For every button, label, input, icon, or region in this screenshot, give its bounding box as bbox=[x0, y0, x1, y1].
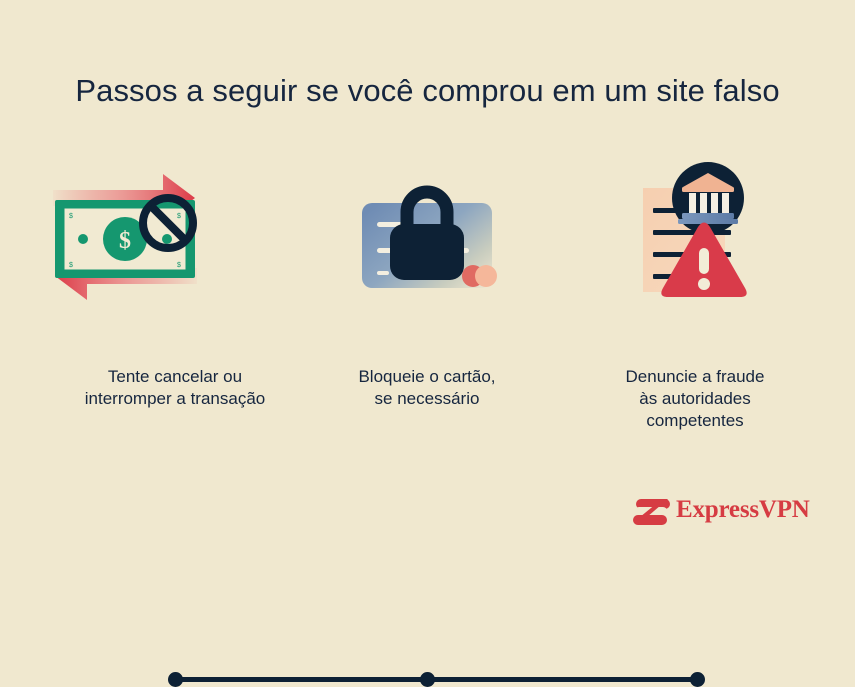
timeline-line bbox=[175, 677, 697, 682]
step-3-caption: Denuncie a fraude às autoridades compete… bbox=[565, 366, 825, 432]
page-title: Passos a seguir se você comprou em um si… bbox=[0, 72, 855, 110]
svg-text:$: $ bbox=[69, 213, 73, 220]
timeline-dot-3 bbox=[690, 672, 705, 687]
step-2-caption-line-1: Bloqueie o cartão, bbox=[297, 366, 557, 388]
step-1-caption-line-2: interromper a transação bbox=[45, 388, 305, 410]
svg-text:$: $ bbox=[177, 262, 181, 269]
step-3-caption-line-1: Denuncie a fraude bbox=[565, 366, 825, 388]
dollar-sign-glyph: $ bbox=[119, 228, 131, 254]
step-1-caption-line-1: Tente cancelar ou bbox=[45, 366, 305, 388]
money-transfer-blocked-icon: $ $ $ $ $ bbox=[45, 160, 305, 320]
step-3-caption-line-3: competentes bbox=[565, 410, 825, 432]
timeline-dot-1 bbox=[168, 672, 183, 687]
step-1-caption: Tente cancelar ou interromper a transaçã… bbox=[45, 366, 305, 410]
step-1-illustration: $ $ $ $ $ bbox=[45, 160, 305, 320]
svg-text:$: $ bbox=[69, 262, 73, 269]
step-3-illustration bbox=[565, 160, 825, 320]
card-network-circles-icon bbox=[462, 265, 497, 287]
banknote-icon: $ $ $ $ $ bbox=[55, 200, 195, 278]
bank-badge-icon bbox=[672, 162, 744, 234]
expressvpn-wordmark: ExpressVPN bbox=[676, 496, 810, 524]
step-2-illustration bbox=[297, 160, 557, 320]
step-3-caption-line-2: às autoridades bbox=[565, 388, 825, 410]
expressvpn-logo: ExpressVPN bbox=[632, 492, 792, 532]
infographic-root: Passos a seguir se você comprou em um si… bbox=[0, 0, 855, 561]
timeline-dot-2 bbox=[420, 672, 435, 687]
step-2-caption-line-2: se necessário bbox=[297, 388, 557, 410]
step-2-caption: Bloqueie o cartão, se necessário bbox=[297, 366, 557, 410]
locked-credit-card-icon bbox=[297, 160, 557, 320]
svg-text:$: $ bbox=[177, 213, 181, 220]
timeline bbox=[0, 330, 855, 370]
expressvpn-e-mark-icon bbox=[632, 495, 672, 529]
report-fraud-icon bbox=[565, 160, 825, 320]
